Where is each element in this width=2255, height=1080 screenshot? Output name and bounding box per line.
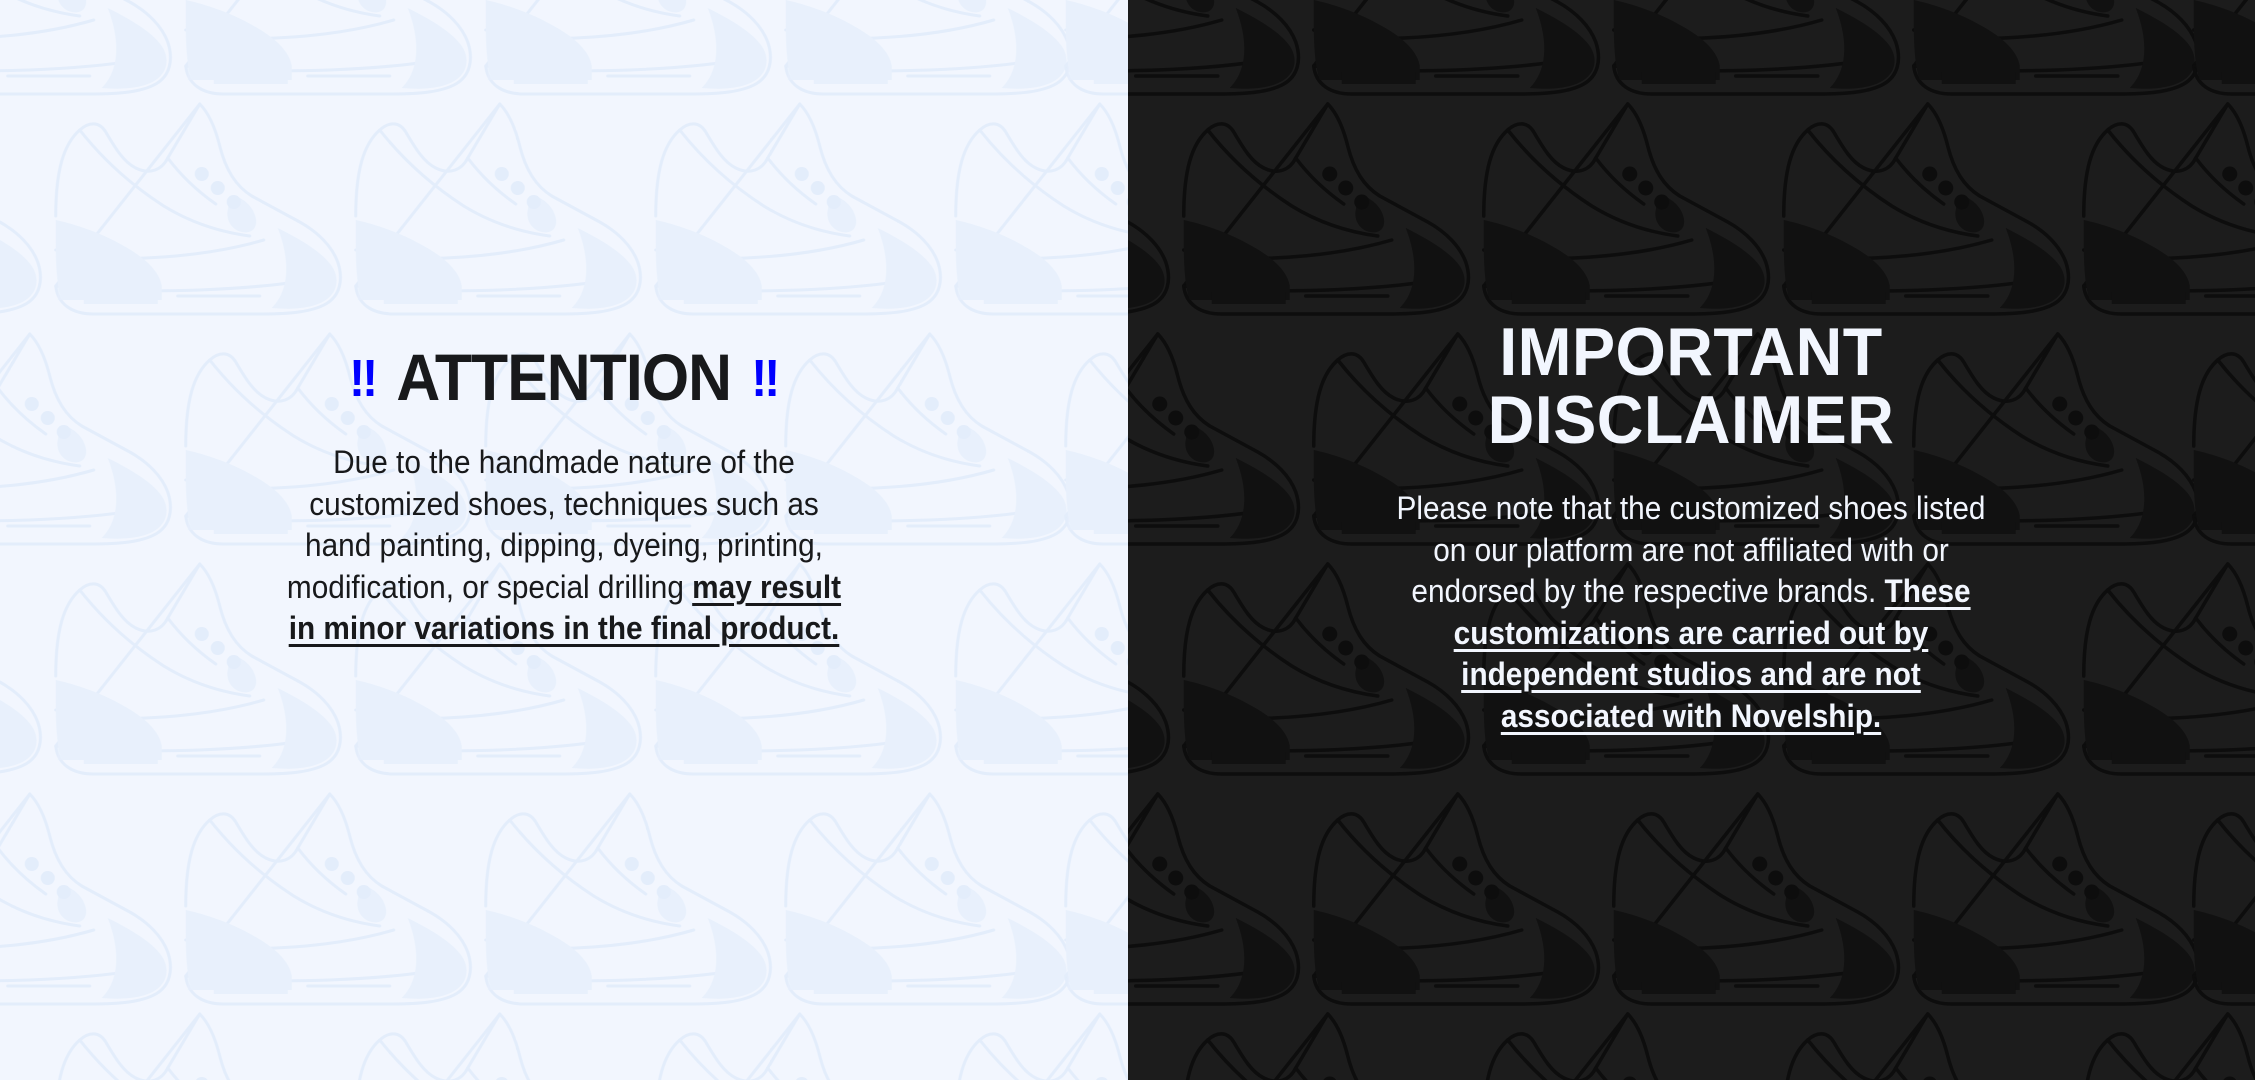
- disclaimer-heading-line1: IMPORTANT: [1500, 314, 1883, 390]
- attention-body: Due to the handmade nature of the custom…: [285, 442, 843, 650]
- disclaimer-heading: IMPORTANTDISCLAIMER: [1387, 318, 1995, 454]
- disclaimer-content: IMPORTANTDISCLAIMER Please note that the…: [1128, 0, 2255, 738]
- attention-content: ‼ATTENTION‼ Due to the handmade nature o…: [0, 0, 1128, 650]
- double-exclamation-left-icon: ‼: [349, 353, 376, 405]
- disclaimer-panel: IMPORTANTDISCLAIMER Please note that the…: [1128, 0, 2255, 1080]
- disclaimer-body: Please note that the customized shoes li…: [1394, 488, 1989, 738]
- attention-panel: ‼ATTENTION‼ Due to the handmade nature o…: [0, 0, 1128, 1080]
- disclaimer-heading-line2: DISCLAIMER: [1488, 382, 1895, 458]
- attention-heading-text: ATTENTION: [396, 340, 731, 414]
- attention-heading: ‼ATTENTION‼: [128, 344, 1000, 410]
- double-exclamation-right-icon: ‼: [751, 353, 778, 405]
- split-screen-container: ‼ATTENTION‼ Due to the handmade nature o…: [0, 0, 2255, 1080]
